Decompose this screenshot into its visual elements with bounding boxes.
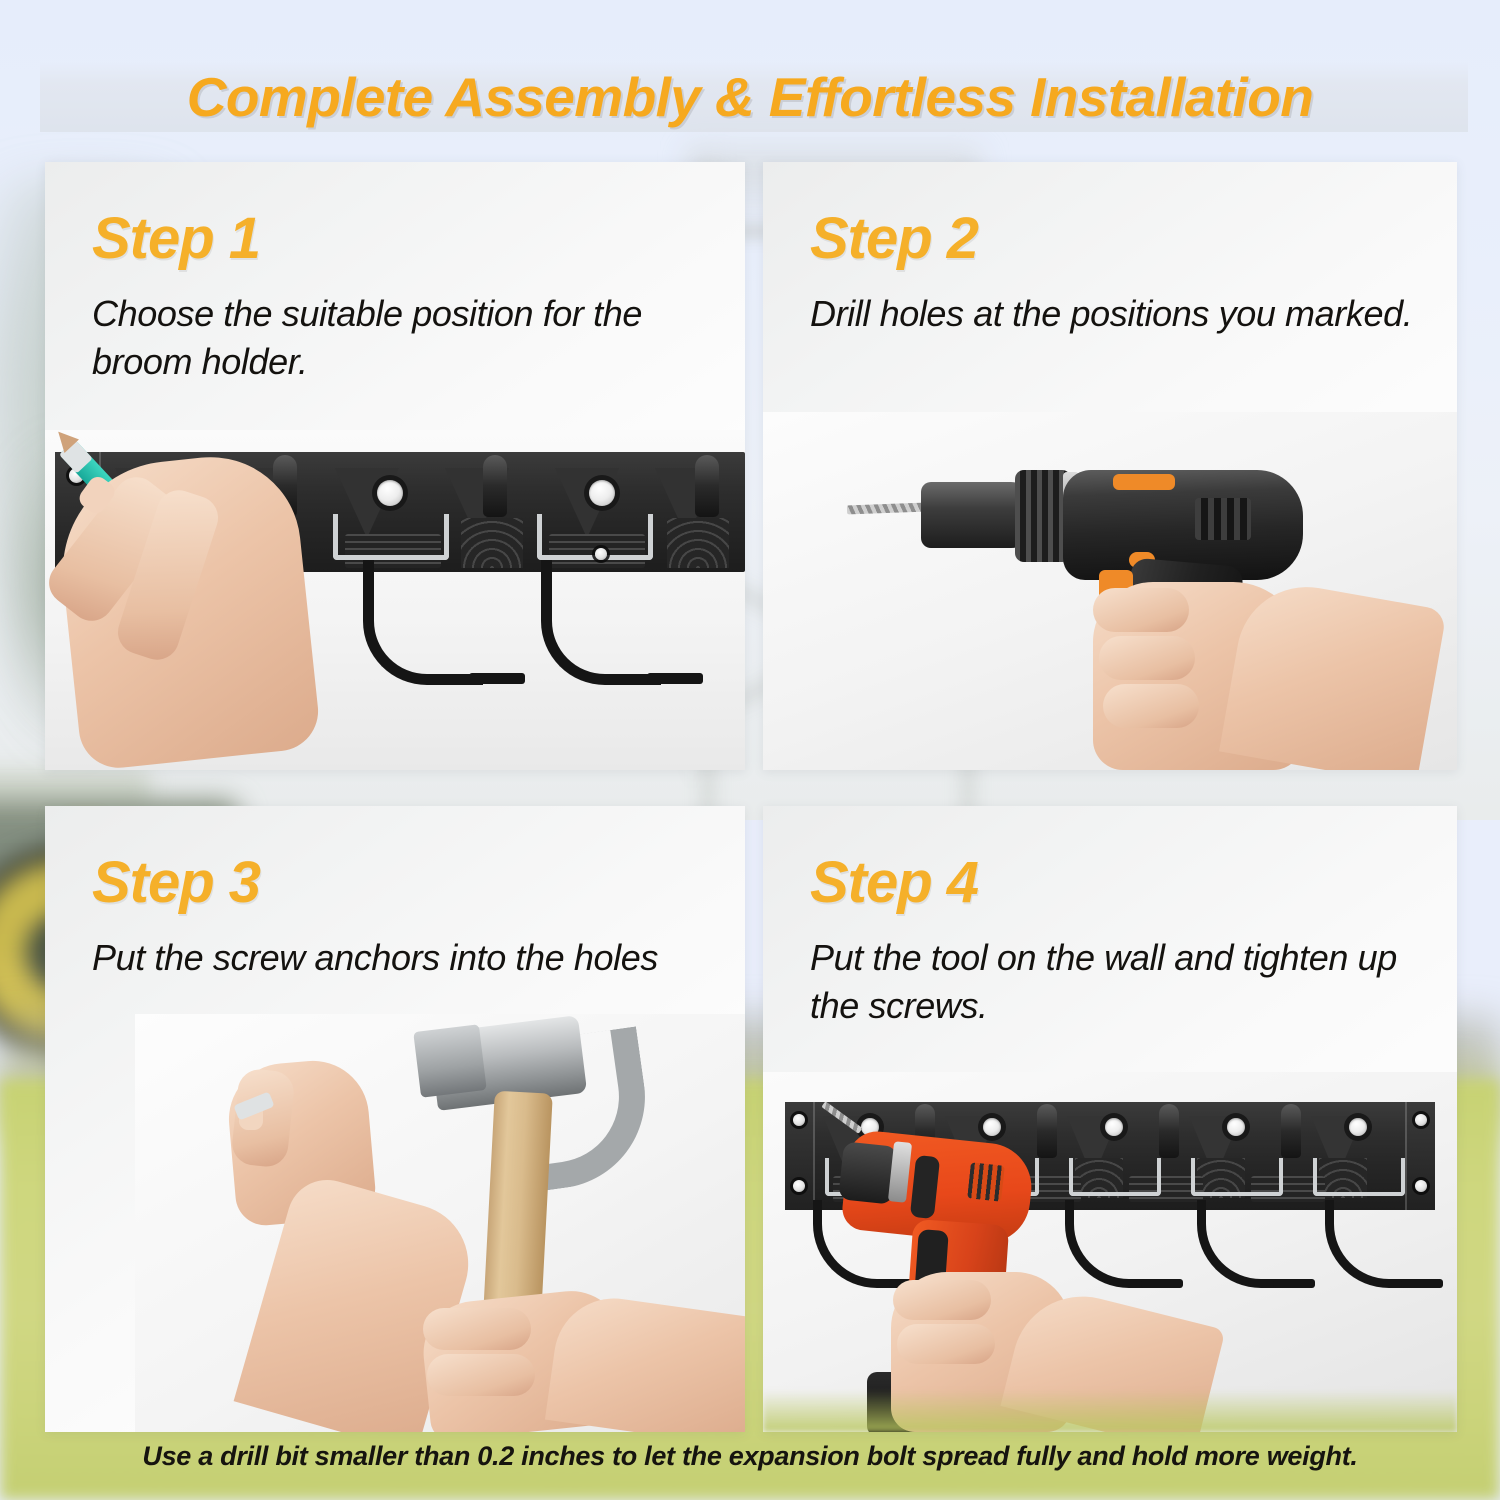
rack-u-clip <box>1313 1158 1405 1196</box>
step-4-description: Put the tool on the wall and tighten up … <box>810 934 1440 1030</box>
rack-rubber-nub <box>695 455 719 517</box>
step-3-heading: Step 3 <box>92 854 260 912</box>
step-4-grass-strip <box>763 1390 1457 1432</box>
step-3-photo <box>135 1014 745 1432</box>
drill-orange-accent <box>1113 474 1175 490</box>
rack-rubber-nub <box>1159 1104 1179 1158</box>
step-card-2: Step 2 Drill holes at the positions you … <box>763 162 1457 770</box>
rack-mount-hole <box>1105 1118 1123 1136</box>
rack-screw-hole <box>595 548 607 560</box>
rack-hook <box>1325 1200 1411 1288</box>
step-3-description: Put the screw anchors into the holes <box>92 934 732 982</box>
rack-hook-tip <box>1273 1279 1315 1288</box>
finger <box>897 1324 995 1364</box>
rack-mount-hole <box>1227 1118 1245 1136</box>
rack-mount-hole <box>983 1118 1001 1136</box>
screwdriver-vent <box>967 1162 1005 1201</box>
rack-u-clip <box>1069 1158 1161 1196</box>
page-title-container: Complete Assembly & Effortless Installat… <box>0 58 1500 136</box>
rack-rubber-nub <box>1281 1104 1301 1158</box>
rack-rubber-nub <box>483 455 507 517</box>
rack-rubber-nub <box>1037 1104 1057 1158</box>
step-1-description: Choose the suitable position for the bro… <box>92 290 732 386</box>
step-2-photo <box>763 412 1457 770</box>
step-2-heading: Step 2 <box>810 210 978 268</box>
rack-u-clip <box>1191 1158 1283 1196</box>
step-card-3: Step 3 Put the screw anchors into the ho… <box>45 806 745 1432</box>
rack-mount-hole <box>1349 1118 1367 1136</box>
drill-bit <box>847 503 927 515</box>
rack-mount-hole <box>377 480 403 506</box>
step-4-photo <box>763 1072 1457 1432</box>
footer-note: Use a drill bit smaller than 0.2 inches … <box>0 1441 1500 1472</box>
finger <box>1099 636 1195 680</box>
step-card-4: Step 4 Put the tool on the wall and tigh… <box>763 806 1457 1432</box>
step-card-1: Step 1 Choose the suitable position for … <box>45 162 745 770</box>
step-4-heading: Step 4 <box>810 854 978 912</box>
rack-fan-texture <box>667 518 729 568</box>
rack-hook-tip <box>469 673 525 684</box>
rack-mount-hole <box>589 480 615 506</box>
finger <box>1093 588 1189 632</box>
rack-hook-tip <box>1401 1279 1443 1288</box>
rack-hook-tip <box>647 673 703 684</box>
drill-vent <box>1195 498 1251 540</box>
rack-screw-hole <box>793 1180 805 1192</box>
finger <box>423 1308 531 1350</box>
page-title: Complete Assembly & Effortless Installat… <box>187 65 1313 129</box>
rack-u-clip <box>333 514 449 560</box>
step-2-description: Drill holes at the positions you marked. <box>810 290 1440 338</box>
finger <box>427 1354 535 1396</box>
finger <box>893 1280 991 1320</box>
step-1-heading: Step 1 <box>92 210 260 268</box>
rack-screw-hole <box>1415 1180 1427 1192</box>
rack-hook <box>1197 1200 1283 1288</box>
forearm <box>545 1291 745 1432</box>
hammer-face <box>413 1024 487 1098</box>
rack-hook <box>363 560 483 685</box>
rack-hook <box>1065 1200 1151 1288</box>
rack-screw-hole <box>1415 1114 1427 1126</box>
rack-screw-hole <box>793 1114 805 1126</box>
rack-hook <box>541 560 661 685</box>
rack-hook-tip <box>1141 1279 1183 1288</box>
step-1-photo <box>45 430 745 770</box>
finger <box>1103 684 1199 728</box>
